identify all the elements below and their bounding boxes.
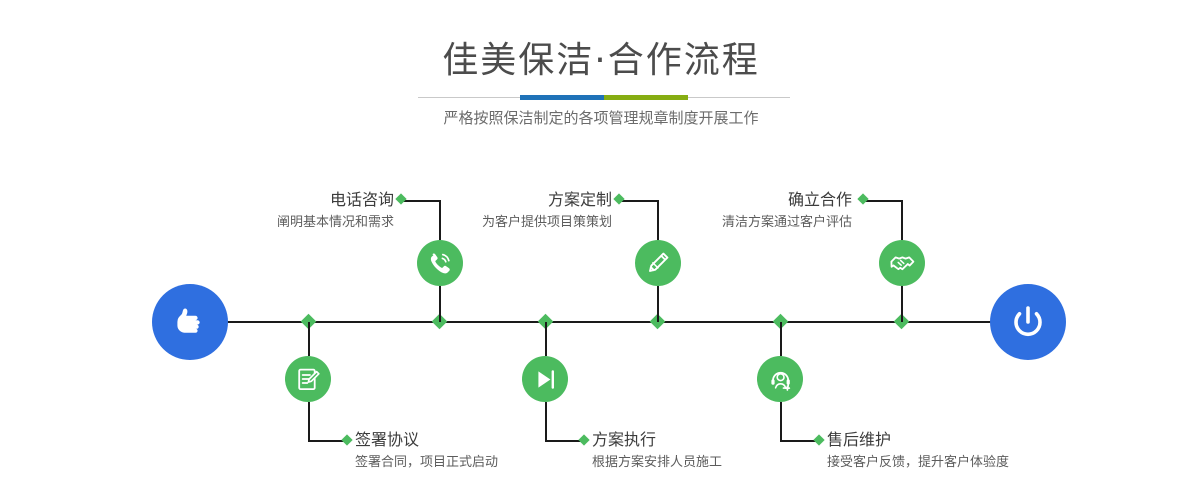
power-icon <box>1006 300 1050 344</box>
handshake-icon <box>888 249 916 277</box>
step-label-4: 方案执行 根据方案安排人员施工 <box>592 429 852 473</box>
divider-segment-green <box>604 95 688 100</box>
step-label-6: 售后维护 接受客户反馈，提升客户体验度 <box>827 429 1107 473</box>
phone-call-icon <box>426 249 454 277</box>
step-title-6: 售后维护 <box>827 429 1107 451</box>
hand-pointing-right-icon <box>169 301 211 343</box>
connector-horizontal-6 <box>780 440 818 442</box>
step-desc-4: 根据方案安排人员施工 <box>592 453 852 473</box>
pencil-icon <box>644 249 672 277</box>
connector-vertical-5b <box>901 286 903 322</box>
timeline-axis <box>155 321 1053 323</box>
play-execute-icon <box>532 366 559 393</box>
step-icon-1[interactable] <box>417 240 463 286</box>
label-marker-2 <box>341 434 352 445</box>
step-desc-5: 清洁方案通过客户评估 <box>630 213 852 233</box>
timeline-end-node[interactable] <box>990 284 1066 360</box>
connector-vertical-2b <box>308 402 310 440</box>
step-label-3: 方案定制 为客户提供项目策策划 <box>380 189 612 233</box>
step-label-2: 签署协议 签署合同，项目正式启动 <box>355 429 615 473</box>
connector-vertical-4 <box>545 322 547 356</box>
document-edit-icon <box>295 366 322 393</box>
connector-horizontal-2 <box>308 440 346 442</box>
step-icon-4[interactable] <box>522 356 568 402</box>
step-title-3: 方案定制 <box>380 189 612 211</box>
connector-horizontal-5 <box>864 200 902 202</box>
step-desc-6: 接受客户反馈，提升客户体验度 <box>827 453 1107 473</box>
step-icon-2[interactable] <box>285 356 331 402</box>
label-marker-5 <box>857 193 868 204</box>
divider-segment-blue <box>520 95 604 100</box>
step-label-1: 电话咨询 阐明基本情况和需求 <box>150 189 394 233</box>
connector-vertical-6b <box>780 402 782 440</box>
step-desc-2: 签署合同，项目正式启动 <box>355 453 615 473</box>
step-icon-6[interactable] <box>757 356 803 402</box>
connector-vertical-2 <box>308 322 310 356</box>
step-desc-3: 为客户提供项目策策划 <box>380 213 612 233</box>
customer-service-add-icon <box>767 366 794 393</box>
page-subtitle: 严格按照保洁制定的各项管理规章制度开展工作 <box>0 107 1202 129</box>
step-icon-3[interactable] <box>635 240 681 286</box>
page-title: 佳美保洁·合作流程 <box>0 38 1202 84</box>
connector-vertical-3b <box>657 286 659 322</box>
header: 佳美保洁·合作流程 严格按照保洁制定的各项管理规章制度开展工作 <box>0 0 1202 145</box>
connector-vertical-5 <box>901 200 903 240</box>
step-label-5: 确立合作 清洁方案通过客户评估 <box>630 189 852 233</box>
title-divider <box>418 95 790 100</box>
connector-horizontal-4 <box>545 440 583 442</box>
timeline-start-node[interactable] <box>152 284 228 360</box>
step-desc-1: 阐明基本情况和需求 <box>150 213 394 233</box>
step-title-1: 电话咨询 <box>150 189 394 211</box>
connector-vertical-6 <box>780 322 782 356</box>
connector-vertical-4b <box>545 402 547 440</box>
step-title-5: 确立合作 <box>630 189 852 211</box>
label-marker-3 <box>613 193 624 204</box>
connector-vertical-1b <box>439 286 441 322</box>
flow-diagram-canvas: 佳美保洁·合作流程 严格按照保洁制定的各项管理规章制度开展工作 <box>0 0 1202 502</box>
step-icon-5[interactable] <box>879 240 925 286</box>
